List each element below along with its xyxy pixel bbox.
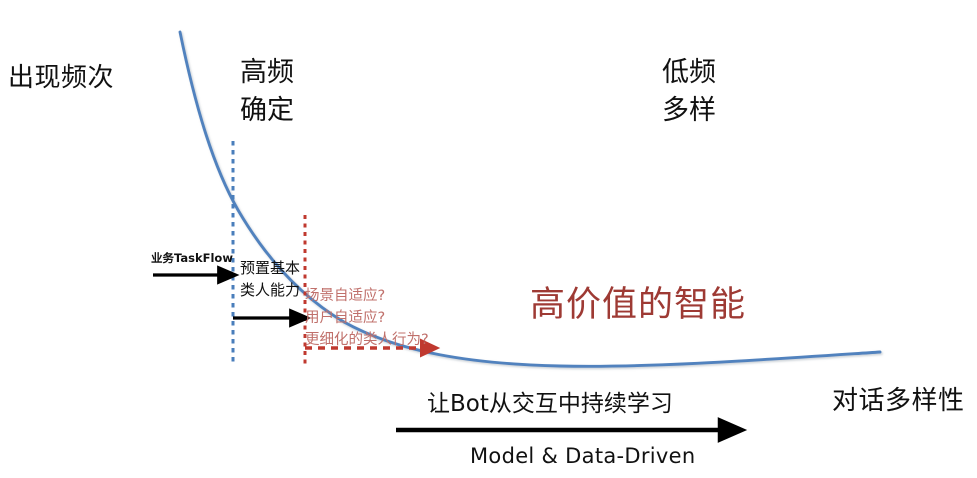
label-low-frequency: 低频 多样 (662, 54, 716, 131)
y-axis-label: 出现频次 (8, 62, 114, 95)
x-axis-label: 对话多样性 (832, 385, 965, 418)
slide-canvas: 出现频次 对话多样性 高频 确定 低频 多样 业务TaskFlow 预置基本 类… (0, 0, 977, 478)
stage-label-adaptive-questions: 场景自适应? 用户自适应? 更细化的类人行为? (305, 286, 429, 351)
bottom-arrow-sub-label: Model & Data-Driven (470, 443, 696, 470)
highlight-high-value-intelligence: 高价值的智能 (530, 283, 746, 328)
bottom-arrow-top-label: 让Bot从交互中持续学习 (427, 390, 673, 419)
stage-label-business-taskflow: 业务TaskFlow (151, 251, 233, 266)
stage-label-preset-human-like: 预置基本 类人能力 (240, 258, 300, 302)
label-high-frequency: 高频 确定 (240, 54, 294, 131)
